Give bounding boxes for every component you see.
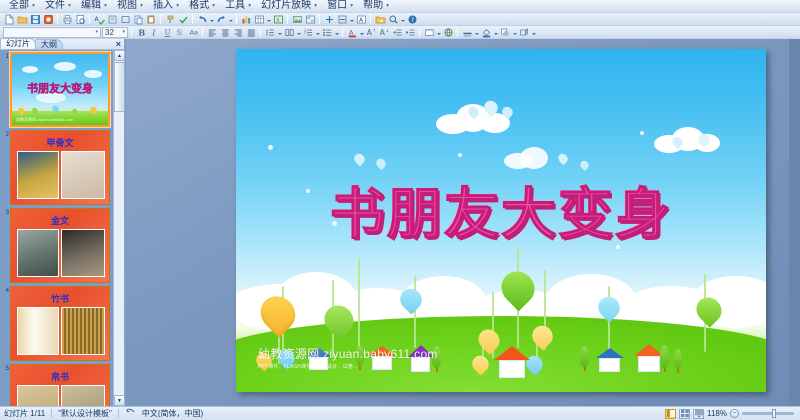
- thumbnail-title: 竹书: [11, 292, 109, 305]
- list-item[interactable]: 2 甲骨文: [10, 130, 114, 205]
- standard-toolbar: A: [0, 13, 800, 26]
- underline-icon[interactable]: U: [161, 27, 173, 38]
- thumbnail-image: [61, 307, 105, 355]
- table-dropdown-icon[interactable]: [266, 14, 271, 25]
- zoom-slider-handle[interactable]: [772, 409, 776, 418]
- columns-dropdown-icon[interactable]: [296, 27, 301, 38]
- list-item[interactable]: 3 金文: [10, 208, 114, 283]
- svg-text:U: U: [164, 28, 170, 36]
- design-icon[interactable]: [423, 27, 435, 38]
- watermark-sub-text: PPT课件、FLASH课件、教案设计、试卷…: [258, 363, 438, 370]
- toolbar-separator: [131, 27, 132, 37]
- line-style-icon[interactable]: [461, 27, 473, 38]
- spelling-check-icon[interactable]: A: [93, 14, 105, 25]
- chevron-down-icon: ▾: [176, 3, 179, 9]
- zoom-slider[interactable]: [742, 412, 794, 415]
- menu-item-all[interactable]: 全部 ▾: [4, 0, 40, 12]
- font-color-icon[interactable]: A: [346, 27, 358, 38]
- insert-chart-icon[interactable]: [240, 14, 252, 25]
- balloon-stem: [358, 258, 360, 356]
- menu-label: 全部: [9, 0, 29, 12]
- thumbnail-number: 4: [1, 288, 9, 295]
- menu-label: 视图: [117, 0, 137, 12]
- slideshow-view-button[interactable]: [693, 409, 704, 419]
- svg-text:2: 2: [304, 30, 306, 34]
- thumbnail-number: 5: [1, 366, 9, 373]
- svg-text:B: B: [138, 27, 145, 37]
- chevron-down-icon: ▾: [386, 3, 389, 9]
- toolbar-separator: [202, 27, 203, 37]
- menu-item-view[interactable]: 视图 ▾: [112, 0, 148, 12]
- thumbnail-image: [61, 151, 105, 199]
- thumbnail-slide-1[interactable]: 书朋友大变身 幼教资源网 ziyuan.baby611.com: [10, 52, 110, 127]
- tree-icon: [674, 349, 682, 373]
- slide-workspace: 书朋友大变身 幼教资源网 ziyuan.baby611.com PPT课件、FL…: [126, 39, 800, 406]
- numbered-list-dropdown-icon[interactable]: [315, 27, 320, 38]
- undo-dropdown-icon[interactable]: [209, 14, 214, 25]
- chevron-down-icon: ▾: [32, 3, 35, 9]
- house-icon: [494, 346, 530, 378]
- thumbnail-watermark: 幼教资源网 ziyuan.baby611.com: [16, 117, 74, 123]
- cut-icon[interactable]: [119, 14, 131, 25]
- language-label[interactable]: 中文(简体，中国): [142, 408, 203, 419]
- shadow-icon[interactable]: SS: [174, 27, 186, 38]
- svg-text:S: S: [179, 30, 184, 38]
- chevron-down-icon: ▾: [248, 3, 251, 9]
- close-panel-icon[interactable]: ×: [116, 39, 121, 49]
- chevron-down-icon: ▾: [104, 3, 107, 9]
- toolbar-separator: [89, 14, 90, 24]
- design-template-label[interactable]: "默认设计模板": [58, 408, 112, 419]
- increase-font-icon[interactable]: A↑: [365, 27, 377, 38]
- toolbar-separator: [319, 14, 320, 24]
- menu-item-window[interactable]: 窗口 ▾: [322, 0, 358, 12]
- align-right-icon[interactable]: [232, 27, 244, 38]
- thumbnail-title: 书朋友大变身: [12, 80, 108, 96]
- thumbnail-image: [17, 385, 59, 406]
- chevron-down-icon: ▾: [212, 3, 215, 9]
- menu-label: 工具: [225, 0, 245, 12]
- svg-text:X: X: [276, 18, 280, 24]
- thumbnail-slide-3[interactable]: 金文: [10, 208, 110, 283]
- fill-color-icon[interactable]: [480, 27, 492, 38]
- menu-label: 幻灯片放映: [261, 0, 311, 12]
- panel-tabstrip: 幻灯片 大纲 ×: [0, 39, 124, 50]
- panel-scrollbar[interactable]: ▲ ▼: [113, 50, 124, 406]
- print-icon[interactable]: [61, 14, 73, 25]
- tab-slides[interactable]: 幻灯片: [0, 38, 36, 49]
- italic-icon[interactable]: I: [148, 27, 160, 38]
- thumbnail-number: 3: [1, 210, 9, 217]
- powerpoint-window: 全部 ▾ 文件 ▾ 编辑 ▾ 视图 ▾ 插入 ▾ 格式 ▾ 工具 ▾ 幻灯片放映: [0, 0, 800, 420]
- justify-icon[interactable]: [245, 27, 257, 38]
- chevron-down-icon: ▾: [140, 3, 143, 9]
- toolbar-separator: [342, 27, 343, 37]
- menu-label: 插入: [153, 0, 173, 12]
- chevron-down-icon: ▾: [314, 3, 317, 9]
- menu-bar: 全部 ▾ 文件 ▾ 编辑 ▾ 视图 ▾ 插入 ▾ 格式 ▾ 工具 ▾ 幻灯片放映: [0, 0, 800, 13]
- slide-title[interactable]: 书朋友大变身: [236, 169, 766, 249]
- zoom-level-label: 118%: [707, 409, 727, 418]
- menu-label: 格式: [189, 0, 209, 12]
- insert-picture-icon[interactable]: [291, 14, 303, 25]
- status-separator: [51, 409, 52, 418]
- expand-icon[interactable]: [323, 14, 335, 25]
- slide-sorter-view-button[interactable]: [679, 409, 690, 419]
- status-separator: [118, 409, 119, 418]
- open-folder-icon[interactable]: [16, 14, 28, 25]
- thumbnail-image: [61, 229, 105, 277]
- help-icon[interactable]: ?: [406, 14, 418, 25]
- sparkle-dot: [458, 153, 462, 157]
- sparkle-dot: [268, 145, 273, 150]
- check-mark-icon[interactable]: [177, 14, 189, 25]
- research-icon[interactable]: [106, 14, 118, 25]
- tree-icon: [580, 346, 589, 371]
- balloon-stem: [414, 276, 416, 348]
- list-item[interactable]: 4 竹书: [10, 286, 114, 361]
- menu-item-slideshow[interactable]: 幻灯片放映 ▾: [256, 0, 322, 12]
- expand-dropdown-icon[interactable]: [349, 14, 354, 25]
- toolbar-separator: [236, 14, 237, 24]
- slide-panel: 幻灯片 大纲 × 1 书朋友大变身: [0, 39, 125, 406]
- thumbnail-image: [17, 307, 59, 355]
- increase-indent-icon[interactable]: [404, 27, 416, 38]
- toolbar-separator: [419, 27, 420, 37]
- save-icon[interactable]: [29, 14, 41, 25]
- numbered-list-icon[interactable]: 12: [302, 27, 314, 38]
- menu-item-help[interactable]: 帮助 ▾: [358, 0, 394, 12]
- font-color-a-icon[interactable]: Aa: [187, 27, 199, 38]
- format-painter-icon[interactable]: [164, 14, 176, 25]
- toolbar-separator: [260, 27, 261, 37]
- font-name-combo[interactable]: ▾: [3, 27, 101, 38]
- formatting-toolbar: ▾ 32 ▾ B I U SS Aa: [0, 26, 800, 39]
- thumbnail-title: 金文: [11, 214, 109, 227]
- three-d-style-icon[interactable]: [518, 27, 530, 38]
- thumbnail-image: [17, 229, 59, 277]
- house-icon: [596, 348, 624, 372]
- spellcheck-icon[interactable]: [125, 408, 136, 420]
- thumbnail-image: [61, 385, 105, 406]
- svg-text:A: A: [349, 28, 354, 36]
- permission-icon[interactable]: [42, 14, 54, 25]
- shadow-style-icon[interactable]: [499, 27, 511, 38]
- scroll-up-icon[interactable]: ▲: [114, 50, 125, 61]
- decrease-indent-icon[interactable]: [391, 27, 403, 38]
- undo-icon[interactable]: [196, 14, 208, 25]
- thumbnail-number: 1: [1, 54, 9, 61]
- menu-label: 帮助: [363, 0, 383, 12]
- thumbnail-number: 2: [1, 132, 9, 139]
- status-right-group: 118% −: [665, 409, 800, 419]
- fill-color-dropdown-icon[interactable]: [493, 27, 498, 38]
- zoom-dropdown-icon[interactable]: [400, 14, 405, 25]
- line-style-dropdown-icon[interactable]: [474, 27, 479, 38]
- bold-icon[interactable]: B: [135, 27, 147, 38]
- menu-label: 窗口: [327, 0, 347, 12]
- redo-dropdown-icon[interactable]: [228, 14, 233, 25]
- svg-text:Aa: Aa: [189, 28, 197, 36]
- align-center-icon[interactable]: [219, 27, 231, 38]
- scroll-down-icon[interactable]: ▼: [114, 395, 125, 406]
- insert-diagram-icon[interactable]: [304, 14, 316, 25]
- sparkle-dot: [640, 131, 644, 135]
- tree-icon: [660, 345, 669, 372]
- align-left-icon[interactable]: [206, 27, 218, 38]
- thumbnail-list[interactable]: 1 书朋友大变身 幼教资源网 ziyuan.baby611.com: [0, 50, 114, 406]
- menu-item-file[interactable]: 文件 ▾: [40, 0, 76, 12]
- new-file-icon[interactable]: [3, 14, 15, 25]
- menu-item-format[interactable]: 格式 ▾: [184, 0, 220, 12]
- design-dropdown-icon[interactable]: [436, 27, 441, 38]
- toolbar-separator: [457, 27, 458, 37]
- svg-text:A: A: [94, 16, 99, 23]
- svg-text:↑: ↑: [372, 28, 376, 34]
- font-color-dropdown-icon[interactable]: [359, 27, 364, 38]
- tab-outline[interactable]: 大纲: [35, 39, 63, 49]
- menu-label: 文件: [45, 0, 65, 12]
- workspace-scrollbar[interactable]: [789, 39, 800, 406]
- thumbnail-slide-2[interactable]: 甲骨文: [10, 130, 110, 205]
- bulleted-list-icon[interactable]: [321, 27, 333, 38]
- svg-text:?: ?: [411, 17, 414, 24]
- columns-icon[interactable]: [283, 27, 295, 38]
- watermark-main-text: 幼教资源网 ziyuan.baby611.com: [258, 345, 438, 362]
- toolbar-separator: [192, 14, 193, 24]
- thumbnail-image: [17, 151, 59, 199]
- collapse-icon[interactable]: [336, 14, 348, 25]
- shadow-style-dropdown-icon[interactable]: [512, 27, 517, 38]
- three-d-dropdown-icon[interactable]: [531, 27, 536, 38]
- line-spacing-dropdown-icon[interactable]: [277, 27, 282, 38]
- watermark: 幼教资源网 ziyuan.baby611.com PPT课件、FLASH课件、教…: [258, 345, 438, 370]
- menu-item-insert[interactable]: 插入 ▾: [148, 0, 184, 12]
- new-slide-icon[interactable]: [374, 14, 386, 25]
- thumbnail-title: 甲骨文: [11, 136, 109, 149]
- chevron-down-icon: ▾: [122, 29, 125, 35]
- insert-table-icon[interactable]: [253, 14, 265, 25]
- toolbar-separator: [370, 14, 371, 24]
- thumbnail-slide-5[interactable]: 帛书: [10, 364, 110, 406]
- menu-item-edit[interactable]: 编辑 ▾: [76, 0, 112, 12]
- bulleted-list-dropdown-icon[interactable]: [334, 27, 339, 38]
- line-spacing-icon[interactable]: [264, 27, 276, 38]
- font-size-combo[interactable]: 32 ▾: [102, 27, 128, 38]
- chevron-down-icon: ▾: [68, 3, 71, 9]
- normal-view-button[interactable]: [665, 409, 676, 419]
- thumbnail-title: 帛书: [11, 370, 109, 383]
- list-item[interactable]: 5 帛书: [10, 364, 114, 406]
- insert-excel-icon[interactable]: X: [272, 14, 284, 25]
- list-item[interactable]: 1 书朋友大变身 幼教资源网 ziyuan.baby611.com: [10, 52, 114, 127]
- menu-item-tools[interactable]: 工具 ▾: [220, 0, 256, 12]
- scrollbar-thumb[interactable]: [114, 62, 125, 112]
- toolbar-separator: [57, 14, 58, 24]
- thumbnail-slide-4[interactable]: 竹书: [10, 286, 110, 361]
- toolbar-separator: [160, 14, 161, 24]
- font-size-value: 32: [105, 28, 114, 37]
- zoom-search-icon[interactable]: [387, 14, 399, 25]
- toolbar-separator: [287, 14, 288, 24]
- show-formatting-icon[interactable]: A: [355, 14, 367, 25]
- chevron-down-icon: ▾: [350, 3, 353, 9]
- print-preview-icon[interactable]: [74, 14, 86, 25]
- decrease-font-icon[interactable]: A↓: [378, 27, 390, 38]
- globe-icon[interactable]: [442, 27, 454, 38]
- zoom-out-button[interactable]: −: [730, 409, 739, 418]
- redo-icon[interactable]: [215, 14, 227, 25]
- svg-text:↓: ↓: [385, 28, 389, 34]
- slide-counter: 幻灯片 1/11: [4, 408, 45, 419]
- svg-text:I: I: [151, 28, 156, 37]
- current-slide[interactable]: 书朋友大变身 幼教资源网 ziyuan.baby611.com PPT课件、FL…: [236, 49, 766, 392]
- status-bar: 幻灯片 1/11 "默认设计模板" 中文(简体，中国) 118% −: [0, 406, 800, 420]
- paste-icon[interactable]: [145, 14, 157, 25]
- chevron-down-icon: ▾: [95, 29, 98, 35]
- copy-icon[interactable]: [132, 14, 144, 25]
- menu-label: 编辑: [81, 0, 101, 12]
